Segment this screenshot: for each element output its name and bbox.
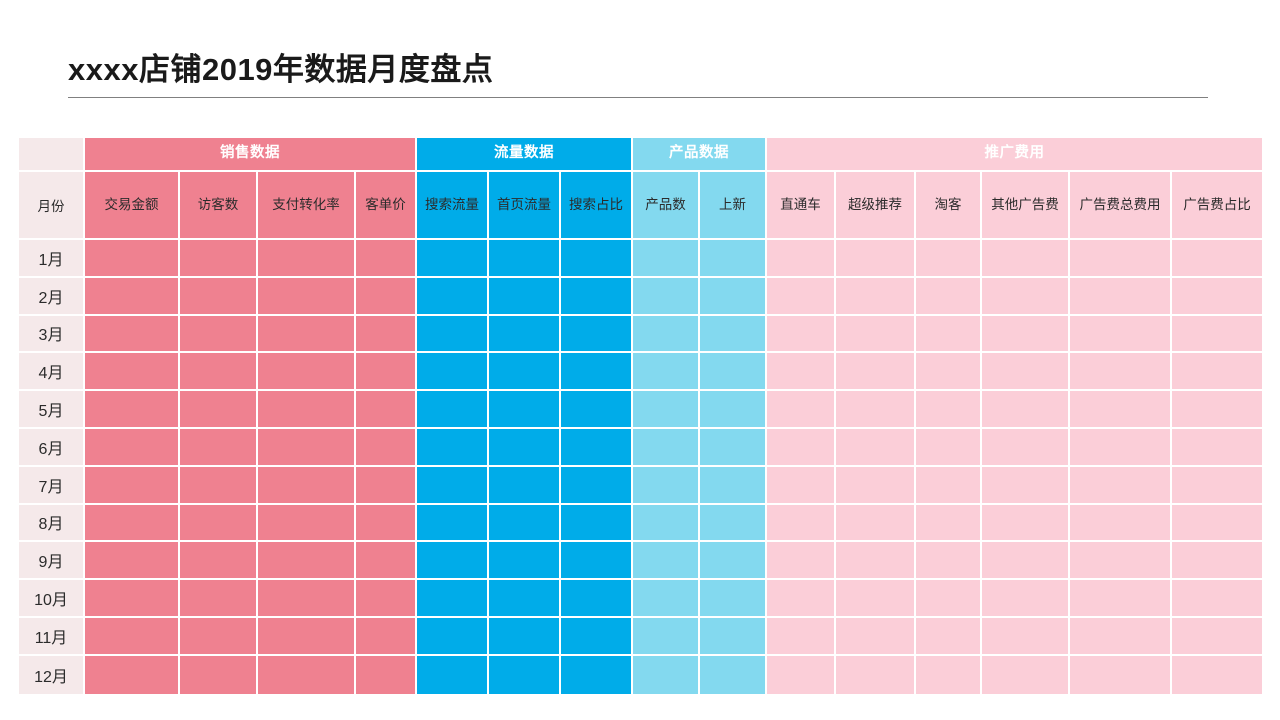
data-cell[interactable] (982, 467, 1070, 505)
data-cell[interactable] (1070, 353, 1172, 391)
table-row: 10月 (19, 580, 1264, 618)
column-header-label: 客单价 (356, 197, 415, 213)
data-cell[interactable] (700, 656, 767, 694)
data-cell[interactable] (700, 429, 767, 467)
data-cell[interactable] (633, 353, 700, 391)
data-cell[interactable] (561, 618, 633, 656)
data-cell[interactable] (258, 278, 356, 316)
data-cell[interactable] (700, 580, 767, 618)
data-cell[interactable] (85, 429, 180, 467)
data-cell[interactable] (916, 580, 982, 618)
data-cell[interactable] (561, 656, 633, 694)
data-cell[interactable] (85, 580, 180, 618)
data-cell[interactable] (1070, 580, 1172, 618)
data-cell[interactable] (489, 316, 561, 354)
data-cell[interactable] (561, 542, 633, 580)
data-cell[interactable] (180, 391, 258, 429)
column-header-cell: 广告费总费用 (1070, 172, 1172, 240)
column-header-cell: 客单价 (356, 172, 417, 240)
group-header-label: 销售数据 (85, 145, 415, 162)
data-cell[interactable] (417, 542, 489, 580)
table-row: 8月 (19, 505, 1264, 543)
group-header-product: 产品数据 (633, 138, 767, 172)
data-cell[interactable] (982, 542, 1070, 580)
data-cell[interactable] (258, 542, 356, 580)
table-row: 5月 (19, 391, 1264, 429)
column-header-label: 直通车 (767, 197, 834, 213)
monthly-data-matrix-table: 销售数据流量数据产品数据推广费用 月份交易金额访客数支付转化率客单价搜索流量首页… (19, 138, 1264, 694)
data-cell[interactable] (767, 278, 836, 316)
column-header-cell: 直通车 (767, 172, 836, 240)
data-cell[interactable] (1172, 580, 1264, 618)
title-block: xxxx店铺2019年数据月度盘点 (68, 48, 1208, 98)
data-cell[interactable] (982, 429, 1070, 467)
data-cell[interactable] (1070, 505, 1172, 543)
column-header-label: 交易金额 (85, 197, 178, 213)
data-cell[interactable] (1172, 467, 1264, 505)
data-cell[interactable] (417, 429, 489, 467)
data-cell[interactable] (836, 240, 916, 278)
column-header-cell: 其他广告费 (982, 172, 1070, 240)
column-header-label: 淘客 (916, 197, 980, 213)
data-cell[interactable] (561, 240, 633, 278)
data-cell[interactable] (767, 467, 836, 505)
data-cell[interactable] (1172, 656, 1264, 694)
data-cell[interactable] (258, 467, 356, 505)
data-cell[interactable] (982, 353, 1070, 391)
data-cell[interactable] (180, 240, 258, 278)
data-cell[interactable] (561, 429, 633, 467)
data-cell[interactable] (767, 505, 836, 543)
data-cell[interactable] (258, 353, 356, 391)
data-matrix-table-wrapper: 销售数据流量数据产品数据推广费用 月份交易金额访客数支付转化率客单价搜索流量首页… (19, 138, 1260, 694)
data-cell[interactable] (1070, 391, 1172, 429)
data-cell[interactable] (356, 429, 417, 467)
data-cell[interactable] (180, 353, 258, 391)
table-row: 1月 (19, 240, 1264, 278)
data-cell[interactable] (417, 316, 489, 354)
column-header-cell: 首页流量 (489, 172, 561, 240)
table-row: 12月 (19, 656, 1264, 694)
data-cell[interactable] (767, 618, 836, 656)
data-cell[interactable] (417, 240, 489, 278)
group-header-label: 产品数据 (633, 145, 765, 162)
column-header-label: 广告费总费用 (1070, 197, 1170, 213)
data-cell[interactable] (916, 542, 982, 580)
column-header-cell: 搜索流量 (417, 172, 489, 240)
data-cell[interactable] (85, 353, 180, 391)
data-cell[interactable] (356, 278, 417, 316)
data-cell[interactable] (767, 391, 836, 429)
data-cell[interactable] (767, 353, 836, 391)
data-cell[interactable] (417, 353, 489, 391)
data-cell[interactable] (1172, 391, 1264, 429)
title-underline-divider (68, 97, 1208, 98)
table-head: 销售数据流量数据产品数据推广费用 月份交易金额访客数支付转化率客单价搜索流量首页… (19, 138, 1264, 240)
data-cell[interactable] (489, 391, 561, 429)
column-header-label: 产品数 (633, 197, 698, 213)
data-cell[interactable] (180, 656, 258, 694)
row-header-month-label: 月份 (19, 172, 85, 240)
data-cell[interactable] (633, 240, 700, 278)
data-cell[interactable] (633, 391, 700, 429)
data-cell[interactable] (700, 542, 767, 580)
data-cell[interactable] (700, 467, 767, 505)
data-cell[interactable] (1070, 656, 1172, 694)
table-row: 9月 (19, 542, 1264, 580)
group-header-traffic: 流量数据 (417, 138, 633, 172)
data-cell[interactable] (85, 505, 180, 543)
data-cell[interactable] (258, 316, 356, 354)
column-header-cell: 交易金额 (85, 172, 180, 240)
data-cell[interactable] (85, 278, 180, 316)
data-cell[interactable] (982, 316, 1070, 354)
data-cell[interactable] (1172, 429, 1264, 467)
data-cell[interactable] (982, 278, 1070, 316)
data-cell[interactable] (916, 467, 982, 505)
row-header-month-10: 10月 (19, 580, 85, 618)
column-header-cell: 淘客 (916, 172, 982, 240)
data-cell[interactable] (633, 618, 700, 656)
data-cell[interactable] (1070, 240, 1172, 278)
data-cell[interactable] (258, 656, 356, 694)
data-cell[interactable] (1070, 429, 1172, 467)
group-header-label: 流量数据 (417, 145, 631, 162)
data-cell[interactable] (1172, 316, 1264, 354)
data-cell[interactable] (180, 467, 258, 505)
data-cell[interactable] (916, 618, 982, 656)
data-cell[interactable] (85, 467, 180, 505)
data-cell[interactable] (489, 618, 561, 656)
data-cell[interactable] (700, 505, 767, 543)
column-header-cell: 产品数 (633, 172, 700, 240)
data-cell[interactable] (700, 353, 767, 391)
column-header-label: 支付转化率 (258, 197, 354, 213)
header-corner-cell (19, 138, 85, 172)
data-cell[interactable] (180, 316, 258, 354)
data-cell[interactable] (356, 353, 417, 391)
row-header-month-7: 7月 (19, 467, 85, 505)
data-cell[interactable] (356, 240, 417, 278)
data-cell[interactable] (417, 618, 489, 656)
data-cell[interactable] (417, 580, 489, 618)
data-cell[interactable] (356, 391, 417, 429)
data-cell[interactable] (767, 580, 836, 618)
column-header-cell: 支付转化率 (258, 172, 356, 240)
data-cell[interactable] (258, 505, 356, 543)
row-header-month-4: 4月 (19, 353, 85, 391)
data-cell[interactable] (1070, 618, 1172, 656)
row-header-month-1: 1月 (19, 240, 85, 278)
data-cell[interactable] (258, 580, 356, 618)
data-cell[interactable] (767, 240, 836, 278)
group-header-label: 推广费用 (767, 145, 1262, 162)
data-cell[interactable] (767, 656, 836, 694)
data-cell[interactable] (356, 316, 417, 354)
column-header-cell: 访客数 (180, 172, 258, 240)
data-cell[interactable] (85, 316, 180, 354)
data-cell[interactable] (489, 656, 561, 694)
data-cell[interactable] (561, 391, 633, 429)
data-cell[interactable] (85, 542, 180, 580)
row-header-month-3: 3月 (19, 316, 85, 354)
data-cell[interactable] (356, 467, 417, 505)
data-cell[interactable] (633, 316, 700, 354)
data-cell[interactable] (836, 656, 916, 694)
data-cell[interactable] (1172, 353, 1264, 391)
data-cell[interactable] (356, 656, 417, 694)
data-cell[interactable] (561, 353, 633, 391)
data-cell[interactable] (180, 542, 258, 580)
data-cell[interactable] (633, 278, 700, 316)
data-cell[interactable] (258, 391, 356, 429)
data-cell[interactable] (489, 542, 561, 580)
data-cell[interactable] (85, 240, 180, 278)
data-cell[interactable] (1070, 316, 1172, 354)
data-cell[interactable] (561, 580, 633, 618)
data-cell[interactable] (982, 240, 1070, 278)
data-cell[interactable] (180, 505, 258, 543)
data-cell[interactable] (916, 278, 982, 316)
data-cell[interactable] (258, 429, 356, 467)
data-cell[interactable] (85, 618, 180, 656)
data-cell[interactable] (417, 278, 489, 316)
data-cell[interactable] (85, 391, 180, 429)
table-row: 4月 (19, 353, 1264, 391)
data-cell[interactable] (356, 542, 417, 580)
data-cell[interactable] (1070, 467, 1172, 505)
data-cell[interactable] (836, 429, 916, 467)
data-cell[interactable] (700, 240, 767, 278)
row-header-month-11: 11月 (19, 618, 85, 656)
data-cell[interactable] (417, 391, 489, 429)
data-cell[interactable] (258, 240, 356, 278)
data-cell[interactable] (836, 542, 916, 580)
data-cell[interactable] (180, 618, 258, 656)
data-cell[interactable] (633, 542, 700, 580)
data-cell[interactable] (489, 429, 561, 467)
data-cell[interactable] (561, 278, 633, 316)
data-cell[interactable] (916, 505, 982, 543)
data-cell[interactable] (1070, 542, 1172, 580)
data-cell[interactable] (633, 505, 700, 543)
data-cell[interactable] (916, 656, 982, 694)
column-header-label: 超级推荐 (836, 197, 914, 213)
data-cell[interactable] (982, 391, 1070, 429)
data-cell[interactable] (1172, 618, 1264, 656)
column-header-cell: 搜索占比 (561, 172, 633, 240)
data-cell[interactable] (836, 278, 916, 316)
column-header-label: 其他广告费 (982, 197, 1068, 213)
data-cell[interactable] (1172, 542, 1264, 580)
data-cell[interactable] (356, 580, 417, 618)
data-cell[interactable] (561, 505, 633, 543)
data-cell[interactable] (489, 467, 561, 505)
data-cell[interactable] (836, 467, 916, 505)
column-header-row: 月份交易金额访客数支付转化率客单价搜索流量首页流量搜索占比产品数上新直通车超级推… (19, 172, 1264, 240)
table-row: 3月 (19, 316, 1264, 354)
row-header-month-9: 9月 (19, 542, 85, 580)
data-cell[interactable] (489, 505, 561, 543)
row-header-month-6: 6月 (19, 429, 85, 467)
data-cell[interactable] (85, 656, 180, 694)
column-header-label: 上新 (700, 197, 765, 213)
table-body: 1月2月3月4月5月6月7月8月9月10月11月12月 (19, 240, 1264, 694)
data-cell[interactable] (489, 353, 561, 391)
row-header-month-8: 8月 (19, 505, 85, 543)
column-header-cell: 广告费占比 (1172, 172, 1264, 240)
data-cell[interactable] (633, 467, 700, 505)
data-cell[interactable] (836, 505, 916, 543)
data-cell[interactable] (767, 429, 836, 467)
data-cell[interactable] (561, 316, 633, 354)
data-cell[interactable] (916, 316, 982, 354)
data-cell[interactable] (767, 542, 836, 580)
data-cell[interactable] (1172, 240, 1264, 278)
page-title: xxxx店铺2019年数据月度盘点 (68, 48, 1208, 92)
column-header-label: 访客数 (180, 197, 256, 213)
data-cell[interactable] (417, 467, 489, 505)
column-header-label: 搜索流量 (417, 197, 487, 213)
data-cell[interactable] (916, 240, 982, 278)
table-row: 2月 (19, 278, 1264, 316)
data-cell[interactable] (489, 240, 561, 278)
column-header-cell: 超级推荐 (836, 172, 916, 240)
data-cell[interactable] (356, 505, 417, 543)
data-cell[interactable] (489, 278, 561, 316)
data-cell[interactable] (417, 656, 489, 694)
column-header-label: 搜索占比 (561, 197, 631, 213)
data-cell[interactable] (561, 467, 633, 505)
table-row: 7月 (19, 467, 1264, 505)
data-cell[interactable] (700, 278, 767, 316)
data-cell[interactable] (836, 353, 916, 391)
data-cell[interactable] (633, 429, 700, 467)
data-cell[interactable] (982, 618, 1070, 656)
group-header-promo: 推广费用 (767, 138, 1264, 172)
group-header-row: 销售数据流量数据产品数据推广费用 (19, 138, 1264, 172)
data-cell[interactable] (916, 353, 982, 391)
data-cell[interactable] (356, 618, 417, 656)
data-cell[interactable] (700, 391, 767, 429)
data-cell[interactable] (180, 429, 258, 467)
data-cell[interactable] (1172, 278, 1264, 316)
data-cell[interactable] (1070, 278, 1172, 316)
row-header-month-12: 12月 (19, 656, 85, 694)
data-cell[interactable] (982, 505, 1070, 543)
data-cell[interactable] (633, 580, 700, 618)
column-header-label: 首页流量 (489, 197, 559, 213)
data-cell[interactable] (633, 656, 700, 694)
data-cell[interactable] (982, 656, 1070, 694)
data-cell[interactable] (258, 618, 356, 656)
data-cell[interactable] (489, 580, 561, 618)
data-cell[interactable] (767, 316, 836, 354)
data-cell[interactable] (417, 505, 489, 543)
table-row: 6月 (19, 429, 1264, 467)
data-cell[interactable] (836, 316, 916, 354)
data-cell[interactable] (836, 580, 916, 618)
column-header-cell: 上新 (700, 172, 767, 240)
column-header-label: 广告费占比 (1172, 197, 1262, 213)
data-cell[interactable] (1172, 505, 1264, 543)
slide-root: xxxx店铺2019年数据月度盘点 销售数据流量数据产品数据推广费用 月份交易金… (0, 0, 1280, 720)
data-cell[interactable] (916, 391, 982, 429)
row-header-month-5: 5月 (19, 391, 85, 429)
data-cell[interactable] (916, 429, 982, 467)
data-cell[interactable] (836, 391, 916, 429)
data-cell[interactable] (180, 278, 258, 316)
data-cell[interactable] (700, 618, 767, 656)
data-cell[interactable] (836, 618, 916, 656)
data-cell[interactable] (700, 316, 767, 354)
table-row: 11月 (19, 618, 1264, 656)
data-cell[interactable] (180, 580, 258, 618)
row-header-month-2: 2月 (19, 278, 85, 316)
data-cell[interactable] (982, 580, 1070, 618)
group-header-sales: 销售数据 (85, 138, 417, 172)
